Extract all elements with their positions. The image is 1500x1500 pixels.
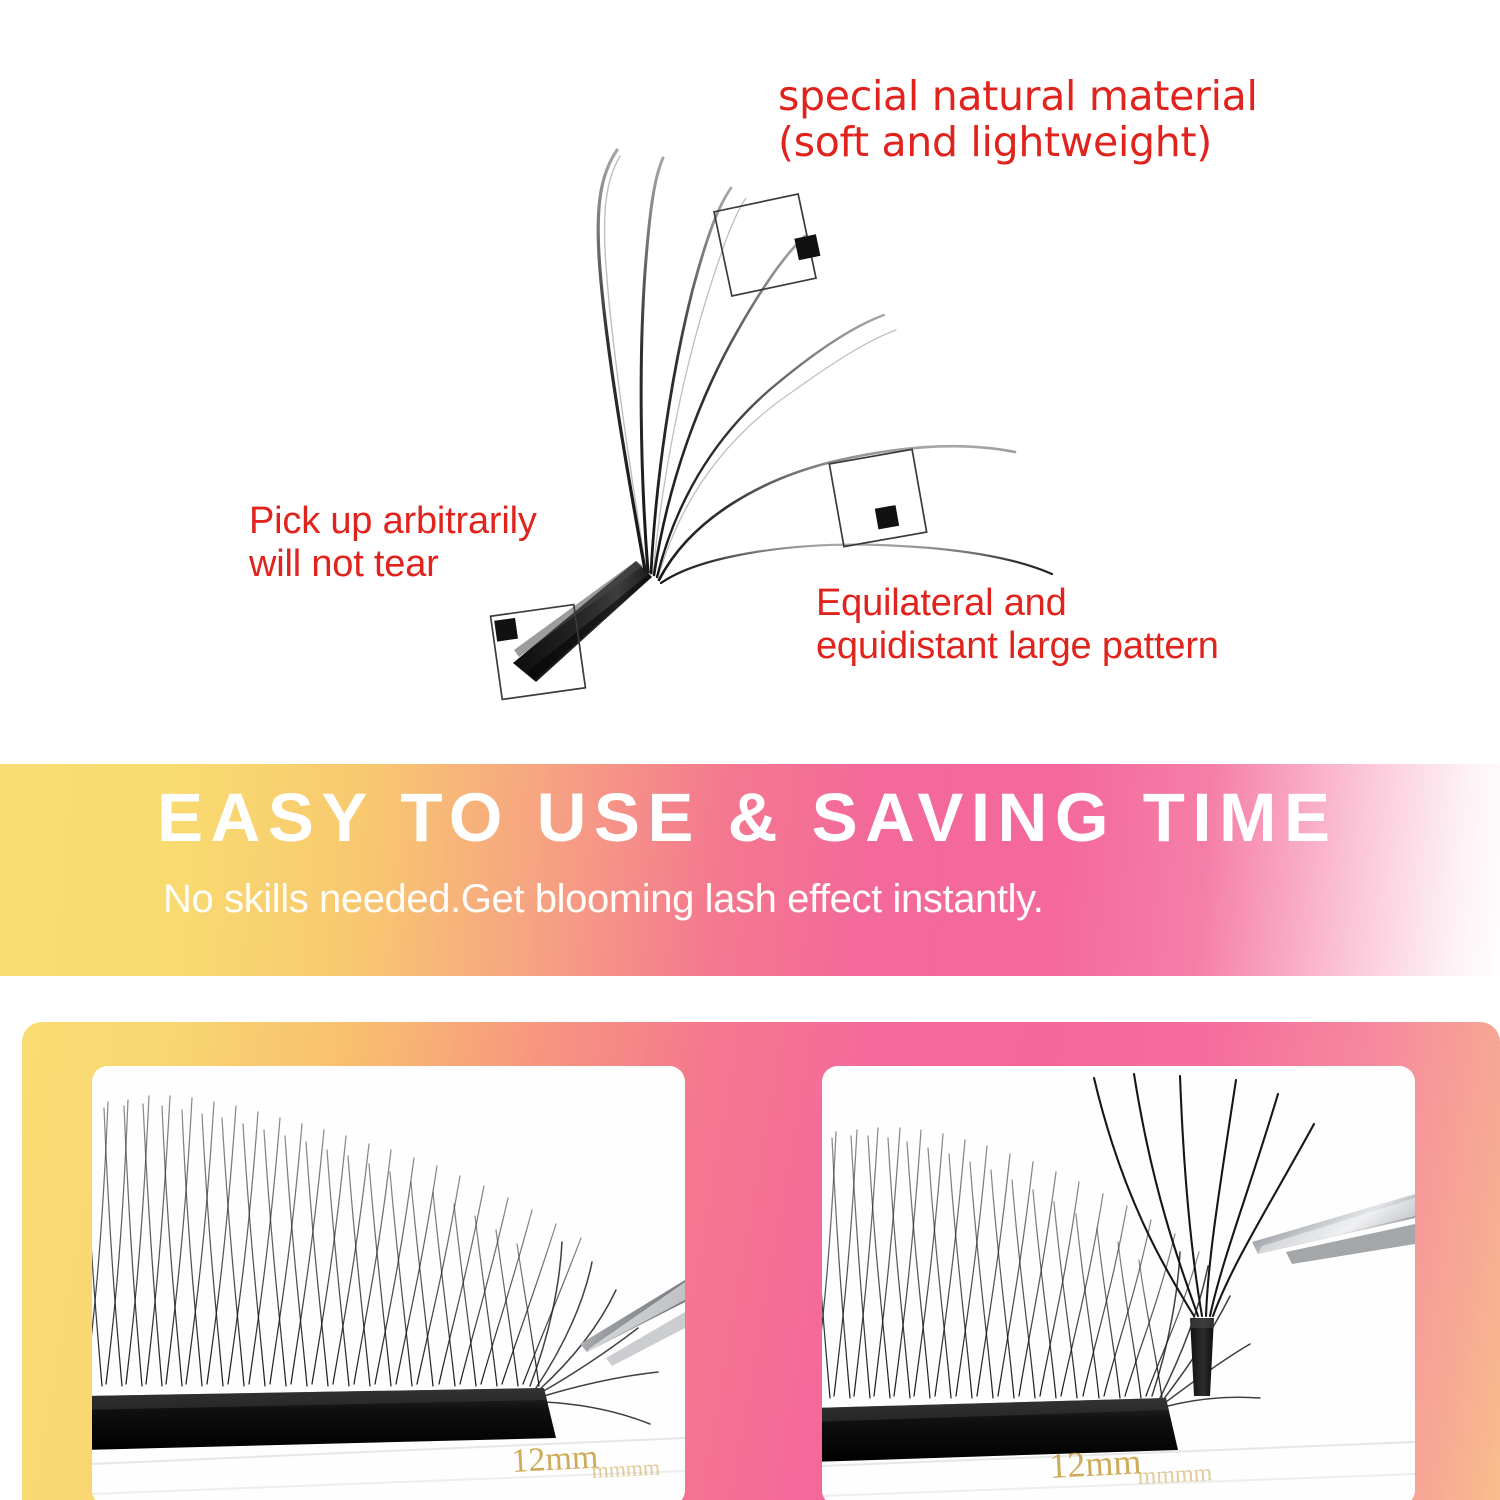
durability-callout: Pick up arbitrarily will not tear (249, 500, 537, 585)
product-infographic: special natural material (soft and light… (0, 0, 1500, 1500)
lash-fan-diagram (0, 0, 1500, 762)
svg-text:mmmm: mmmm (591, 1454, 661, 1483)
lash-tray-photo: 12mm mmmm (92, 1066, 685, 1500)
lash-wisps (605, 156, 896, 578)
svg-text:12mm: 12mm (510, 1438, 599, 1479)
svg-text:mmmm: mmmm (1137, 1460, 1213, 1490)
callout-marker-middle (829, 449, 926, 546)
fan-pickup-photo: 12mm mmmm (822, 1066, 1415, 1500)
promo-banner: EASY TO USE & SAVING TIME No skills need… (0, 764, 1500, 976)
pattern-callout: Equilateral and equidistant large patter… (816, 582, 1219, 667)
lash-strands (598, 150, 1052, 583)
lash-tray-panel: 12mm mmmm (92, 1066, 685, 1500)
material-callout: special natural material (soft and light… (778, 74, 1258, 166)
photo-gallery: 12mm mmmm (22, 1022, 1500, 1500)
hero-section: special natural material (soft and light… (0, 0, 1500, 762)
banner-headline: EASY TO USE & SAVING TIME (157, 778, 1338, 857)
svg-text:12mm: 12mm (1048, 1441, 1142, 1486)
banner-subtitle: No skills needed.Get blooming lash effec… (163, 877, 1043, 922)
fan-pickup-panel: 12mm mmmm (822, 1066, 1415, 1500)
